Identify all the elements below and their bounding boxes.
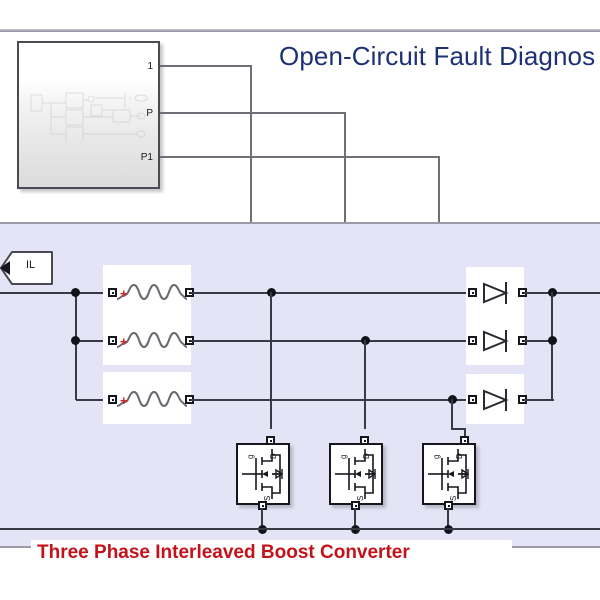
input-bus-vertical xyxy=(75,292,77,400)
fault-diagnosis-subsystem-block[interactable]: 1 P P1 xyxy=(17,41,160,189)
inductor-phase-1-polarity: + xyxy=(120,289,128,298)
mid-wire-phase-3 xyxy=(191,399,469,401)
inductor-phase-1-port-left[interactable] xyxy=(108,288,117,297)
diode-phase-1-port-left[interactable] xyxy=(468,288,477,297)
mosfet-symbol-icon xyxy=(331,445,381,503)
subsystem-port-label-p1: P1 xyxy=(141,153,153,163)
outport-il-label: IL xyxy=(26,259,35,271)
mid-wire-phase-1 xyxy=(191,292,469,294)
mosfet-symbol-icon xyxy=(424,445,474,503)
gate-wire-2-horizontal xyxy=(160,112,346,114)
ground-bus xyxy=(0,528,600,530)
inductor-phase-2-port-left[interactable] xyxy=(108,336,117,345)
drain-wire-phase-2 xyxy=(364,340,366,429)
input-wire-phase-1 xyxy=(0,292,112,294)
diode-phase-2-port-left[interactable] xyxy=(468,336,477,345)
mosfet-phase-2-drain-label: D xyxy=(363,453,371,459)
mosfet-symbol-icon xyxy=(238,445,288,503)
top-divider xyxy=(0,29,600,32)
mosfet-phase-1-gate-label: g xyxy=(247,455,255,459)
diode-phase-1-icon[interactable] xyxy=(476,280,520,306)
simulink-diagram-canvas: Open-Circuit Fault Diagnos xyxy=(0,0,600,600)
diode-phase-3-icon[interactable] xyxy=(476,387,520,413)
gate-wire-3-horizontal xyxy=(160,156,440,158)
mosfet-phase-2-gate-label: g xyxy=(340,455,348,459)
mosfet-phase-1-block[interactable]: g D S xyxy=(236,443,290,505)
mosfet-phase-3-drain-label: D xyxy=(456,453,464,459)
drain-wire-phase-1 xyxy=(270,292,272,429)
inductor-phase-2-polarity: + xyxy=(120,337,128,346)
inductor-phase-3-port-left[interactable] xyxy=(108,395,117,404)
subsystem-port-label-p: P xyxy=(146,109,153,119)
junction-input-phase-1 xyxy=(71,288,80,297)
page-title: Open-Circuit Fault Diagnos xyxy=(279,41,595,72)
mosfet-phase-1-drain-label: D xyxy=(270,453,278,459)
region-label: Three Phase Interleaved Boost Converter xyxy=(37,542,410,564)
junction-input-phase-2 xyxy=(71,336,80,345)
output-bus-vertical xyxy=(551,292,553,400)
mosfet-phase-2-block[interactable]: g D S xyxy=(329,443,383,505)
gate-wire-1-horizontal xyxy=(160,65,252,67)
subsystem-preview-icon xyxy=(29,89,153,141)
mosfet-phase-3-gate-label: g xyxy=(433,455,441,459)
inductor-phase-3-polarity: + xyxy=(120,396,128,405)
drain-wire-phase-3 xyxy=(451,399,453,429)
diode-phase-2-icon[interactable] xyxy=(476,328,520,354)
subsystem-port-label-1: 1 xyxy=(147,62,153,72)
mid-wire-phase-2 xyxy=(191,340,469,342)
diode-phase-3-port-left[interactable] xyxy=(468,395,477,404)
junction-output-phase-2 xyxy=(548,336,557,345)
mosfet-phase-3-block[interactable]: g D S xyxy=(422,443,476,505)
output-wire-phase-3 xyxy=(524,399,554,401)
output-wire-phase-1 xyxy=(524,292,600,294)
